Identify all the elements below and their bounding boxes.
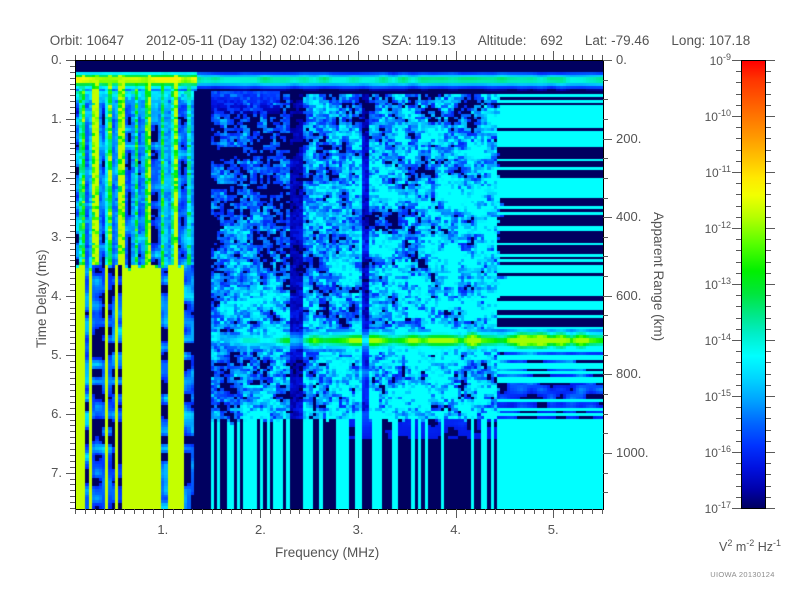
x-tick-minor (368, 509, 369, 514)
x-tick-minor (202, 509, 203, 514)
colorbar-container (741, 60, 766, 509)
y-left-tick-label-7: 7. (29, 465, 62, 480)
colorbar-tick-minor (766, 161, 771, 162)
x-tick-minor (241, 509, 242, 514)
colorbar-tick-major (766, 60, 775, 61)
x-tick-minor (378, 509, 379, 514)
x-tick-minor (563, 509, 564, 514)
colorbar-tick-minor (736, 351, 741, 352)
colorbar-tick-major (766, 396, 775, 397)
y-axis-right-title: Apparent Range (km) (651, 212, 666, 341)
colorbar-tick-minor (736, 150, 741, 151)
y-left-tick (70, 337, 75, 338)
x-tick-minor (573, 509, 574, 514)
x-tick-minor (602, 509, 603, 514)
x-tick-top (417, 55, 418, 60)
colorbar-tick-label--11: 10-11 (679, 164, 731, 180)
x-tick-minor (465, 509, 466, 514)
header-long-label: Long: (671, 33, 705, 48)
colorbar-tick-minor (766, 329, 771, 330)
colorbar-tick-minor (736, 206, 741, 207)
x-tick-top (163, 51, 164, 60)
x-tick-minor (504, 509, 505, 514)
colorbar-tick-major (766, 228, 775, 229)
x-tick-top (153, 55, 154, 60)
header-datetime: 2012-05-11 (Day 132) 02:04:36.126 (146, 33, 360, 48)
y-right-tick (603, 276, 608, 277)
x-tick-minor (173, 509, 174, 514)
y-left-tick (70, 113, 75, 114)
y-left-tick (70, 266, 75, 267)
y-left-tick (70, 95, 75, 96)
x-tick-top (524, 55, 525, 60)
colorbar-tick-minor (766, 82, 771, 83)
y-left-tick (70, 131, 75, 132)
y-left-tick (70, 154, 75, 155)
x-tick-minor (358, 509, 359, 518)
x-tick-label-5: 5. (533, 522, 573, 537)
colorbar-tick-minor (766, 194, 771, 195)
colorbar-tick-minor (766, 127, 771, 128)
y-left-tick (70, 166, 75, 167)
colorbar-unit-label: V2 m-2 Hz-1 (700, 538, 800, 554)
x-tick-minor (221, 509, 222, 514)
colorbar-tick-minor (736, 362, 741, 363)
colorbar-tick-minor (736, 194, 741, 195)
x-tick-minor (387, 509, 388, 514)
x-tick-top (495, 55, 496, 60)
x-tick-top (260, 51, 261, 60)
y-right-tick (603, 99, 608, 100)
colorbar-tick-minor (736, 94, 741, 95)
x-tick-minor (407, 509, 408, 514)
colorbar-tick-minor (766, 183, 771, 184)
y-left-tick (70, 255, 75, 256)
colorbar-tick-minor (766, 239, 771, 240)
colorbar-tick-minor (766, 71, 771, 72)
x-tick-top (465, 55, 466, 60)
colorbar-tick-major (766, 452, 775, 453)
y-left-tick (66, 119, 75, 120)
x-tick-minor (475, 509, 476, 514)
y-left-tick (70, 196, 75, 197)
y-left-tick (70, 172, 75, 173)
header-orbit-label: Orbit: (50, 33, 83, 48)
x-tick-top (134, 55, 135, 60)
header-altitude-value: 692 (540, 33, 563, 48)
colorbar-tick-minor (766, 486, 771, 487)
colorbar-tick-minor (766, 430, 771, 431)
colorbar-tick-minor (736, 318, 741, 319)
colorbar-tick-minor (736, 161, 741, 162)
x-tick-top (290, 55, 291, 60)
y-left-tick (70, 284, 75, 285)
x-tick-minor (417, 509, 418, 514)
x-axis-title: Frequency (MHz) (275, 545, 379, 560)
colorbar-tick-minor (766, 94, 771, 95)
y-left-tick (70, 249, 75, 250)
y-left-tick (70, 490, 75, 491)
colorbar-tick-minor (736, 250, 741, 251)
y-left-tick (66, 355, 75, 356)
y-axis-left-title: Time Delay (ms) (34, 249, 49, 348)
y-left-tick (70, 78, 75, 79)
y-left-tick (70, 502, 75, 503)
y-left-tick (70, 143, 75, 144)
colorbar-tick-minor (736, 295, 741, 296)
x-tick-minor (338, 509, 339, 514)
colorbar-tick-label--12: 10-12 (679, 220, 731, 236)
ionogram-header: Orbit: 10647 2012-05-11 (Day 132) 02:04:… (0, 30, 800, 50)
header-lat-value: -79.46 (611, 33, 649, 48)
colorbar-tick-minor (736, 71, 741, 72)
colorbar-tick-minor (736, 105, 741, 106)
x-tick-top (358, 51, 359, 60)
colorbar-tick-label--15: 10-15 (679, 388, 731, 404)
y-right-tick (603, 335, 608, 336)
y-left-tick (70, 260, 75, 261)
y-left-tick (70, 449, 75, 450)
x-tick-minor (114, 509, 115, 514)
y-right-tick (603, 119, 608, 120)
y-left-tick (70, 201, 75, 202)
x-tick-top (436, 55, 437, 60)
y-left-tick (70, 402, 75, 403)
colorbar-tick-minor (736, 138, 741, 139)
colorbar-tick-minor (736, 486, 741, 487)
x-tick-minor (280, 509, 281, 514)
colorbar-tick-minor (766, 295, 771, 296)
y-left-tick (70, 384, 75, 385)
x-tick-minor (299, 509, 300, 514)
y-left-tick (70, 66, 75, 67)
x-tick-top (104, 55, 105, 60)
y-left-tick (66, 237, 75, 238)
x-tick-top (85, 55, 86, 60)
colorbar-tick-major (732, 116, 741, 117)
y-left-tick (70, 107, 75, 108)
x-tick-minor (143, 509, 144, 514)
y-left-tick (70, 148, 75, 149)
y-right-tick (603, 237, 608, 238)
colorbar-tick-minor (736, 273, 741, 274)
y-right-tick (603, 217, 612, 218)
x-tick-minor (329, 509, 330, 514)
x-tick-minor (514, 509, 515, 514)
y-axis-left (75, 60, 76, 509)
colorbar-tick-minor (766, 385, 771, 386)
colorbar-tick-major (766, 340, 775, 341)
x-tick-minor (192, 509, 193, 514)
colorbar-tick-major (766, 508, 775, 509)
y-left-tick-label-2: 2. (29, 170, 62, 185)
colorbar-tick-minor (736, 385, 741, 386)
colorbar-tick-major (732, 228, 741, 229)
x-tick-minor (182, 509, 183, 514)
colorbar-tick-major (766, 284, 775, 285)
x-tick-minor (582, 509, 583, 514)
x-tick-top (514, 55, 515, 60)
x-tick-minor (290, 509, 291, 514)
y-left-tick (66, 178, 75, 179)
header-sza: SZA: 119.13 (382, 33, 456, 48)
colorbar-tick-label--13: 10-13 (679, 276, 731, 292)
x-tick-top (582, 55, 583, 60)
x-tick-top (348, 55, 349, 60)
x-tick-top (114, 55, 115, 60)
y-right-tick (603, 394, 608, 395)
x-tick-minor (397, 509, 398, 514)
header-orbit-value: 10647 (86, 33, 124, 48)
x-tick-top (534, 55, 535, 60)
colorbar-tick-minor (766, 362, 771, 363)
x-tick-top (573, 55, 574, 60)
y-left-tick (70, 278, 75, 279)
y-right-tick-label-400: 400. (616, 209, 641, 224)
y-right-tick (603, 473, 608, 474)
y-right-tick (603, 198, 608, 199)
colorbar-tick-minor (736, 374, 741, 375)
header-altitude: Altitude: 692 (478, 33, 563, 48)
colorbar-tick-minor (766, 250, 771, 251)
colorbar-tick-minor (736, 262, 741, 263)
y-right-tick (603, 492, 608, 493)
x-tick-minor (524, 509, 525, 514)
colorbar-tick-minor (766, 138, 771, 139)
x-tick-minor (592, 509, 593, 514)
x-tick-top (338, 55, 339, 60)
header-sza-value: 119.13 (415, 33, 455, 48)
colorbar-tick-minor (736, 217, 741, 218)
y-left-tick (70, 396, 75, 397)
colorbar-tick-minor (766, 150, 771, 151)
colorbar-tick-minor (766, 497, 771, 498)
x-tick-top (407, 55, 408, 60)
x-tick-top (192, 55, 193, 60)
y-left-tick (70, 125, 75, 126)
header-lat: Lat: -79.46 (585, 33, 650, 48)
x-tick-minor (124, 509, 125, 514)
x-tick-top (270, 55, 271, 60)
ionogram-heatmap (76, 61, 603, 509)
x-tick-top (563, 55, 564, 60)
y-right-tick (603, 355, 608, 356)
y-left-tick (70, 184, 75, 185)
header-altitude-label: Altitude: (478, 33, 527, 48)
header-long-value: 107.18 (709, 33, 750, 48)
x-tick-top (378, 55, 379, 60)
y-right-tick (603, 296, 612, 297)
colorbar-tick-minor (766, 474, 771, 475)
x-tick-top (182, 55, 183, 60)
y-left-tick (70, 190, 75, 191)
x-tick-top (329, 55, 330, 60)
colorbar-gradient (741, 60, 766, 509)
y-left-tick (70, 443, 75, 444)
y-left-tick (70, 361, 75, 362)
x-tick-minor (153, 509, 154, 514)
x-tick-minor (270, 509, 271, 514)
header-lat-label: Lat: (585, 33, 608, 48)
x-tick-minor (212, 509, 213, 514)
x-tick-minor (163, 509, 164, 518)
colorbar-tick-label--17: 10-17 (679, 500, 731, 516)
x-tick-top (124, 55, 125, 60)
x-tick-top (553, 51, 554, 60)
y-left-tick (70, 160, 75, 161)
x-tick-minor (104, 509, 105, 514)
x-tick-top (299, 55, 300, 60)
colorbar-tick-minor (766, 351, 771, 352)
y-right-tick-label-1000: 1000. (616, 445, 649, 460)
x-tick-minor (426, 509, 427, 514)
colorbar-tick-label--14: 10-14 (679, 332, 731, 348)
colorbar-tick-minor (736, 127, 741, 128)
colorbar-tick-label--10: 10-10 (679, 108, 731, 124)
x-tick-top (592, 55, 593, 60)
colorbar-tick-minor (736, 239, 741, 240)
y-left-tick (70, 331, 75, 332)
y-left-tick-label-0: 0. (29, 52, 62, 67)
x-tick-minor (85, 509, 86, 514)
y-left-tick (70, 243, 75, 244)
credit-text: UIOWA 20130124 (690, 570, 795, 579)
y-right-tick (603, 80, 608, 81)
colorbar-tick-minor (766, 206, 771, 207)
y-left-tick (70, 343, 75, 344)
x-tick-top (280, 55, 281, 60)
y-left-tick (70, 378, 75, 379)
y-right-tick (603, 453, 612, 454)
x-tick-top (75, 55, 76, 60)
y-left-tick (70, 425, 75, 426)
y-left-tick (70, 367, 75, 368)
x-tick-top (173, 55, 174, 60)
y-right-tick (603, 315, 608, 316)
y-left-tick (70, 496, 75, 497)
x-tick-top (485, 55, 486, 60)
x-tick-minor (134, 509, 135, 514)
x-tick-minor (348, 509, 349, 514)
y-left-tick (66, 473, 75, 474)
y-left-tick (70, 349, 75, 350)
y-left-tick (66, 60, 75, 61)
y-left-tick (70, 467, 75, 468)
y-left-tick (70, 479, 75, 480)
x-tick-top (221, 55, 222, 60)
y-left-tick (70, 508, 75, 509)
colorbar-tick-minor (736, 418, 741, 419)
colorbar-tick-major (732, 508, 741, 509)
y-left-tick-label-6: 6. (29, 406, 62, 421)
y-left-tick (70, 89, 75, 90)
y-left-tick (70, 225, 75, 226)
colorbar-tick-major (732, 60, 741, 61)
x-tick-minor (251, 509, 252, 514)
y-left-tick (70, 72, 75, 73)
colorbar-tick-minor (766, 441, 771, 442)
y-left-tick (70, 319, 75, 320)
x-tick-top (426, 55, 427, 60)
colorbar-tick-minor (766, 273, 771, 274)
y-right-tick (603, 433, 608, 434)
x-tick-top (319, 55, 320, 60)
y-left-tick-label-1: 1. (29, 111, 62, 126)
colorbar-tick-minor (766, 463, 771, 464)
colorbar-tick-major (732, 172, 741, 173)
x-tick-top (504, 55, 505, 60)
y-left-tick (70, 372, 75, 373)
header-long: Long: 107.18 (671, 33, 750, 48)
y-left-tick (70, 390, 75, 391)
x-tick-label-2: 2. (240, 522, 280, 537)
x-tick-top (368, 55, 369, 60)
x-tick-minor (319, 509, 320, 514)
x-tick-minor (495, 509, 496, 514)
x-tick-top (251, 55, 252, 60)
x-tick-top (446, 55, 447, 60)
y-left-tick (70, 455, 75, 456)
x-tick-minor (543, 509, 544, 514)
x-tick-label-3: 3. (338, 522, 378, 537)
colorbar-tick-minor (736, 474, 741, 475)
colorbar-tick-minor (736, 463, 741, 464)
y-right-tick (603, 139, 612, 140)
x-tick-minor (446, 509, 447, 514)
x-tick-top (241, 55, 242, 60)
x-tick-label-4: 4. (436, 522, 476, 537)
x-tick-minor (534, 509, 535, 514)
y-left-tick (70, 313, 75, 314)
colorbar-tick-major (766, 116, 775, 117)
x-tick-top (309, 55, 310, 60)
colorbar-tick-minor (736, 407, 741, 408)
colorbar-tick-minor (736, 441, 741, 442)
y-left-tick-label-5: 5. (29, 347, 62, 362)
colorbar-tick-minor (766, 217, 771, 218)
y-axis-right (603, 60, 604, 509)
x-tick-top (202, 55, 203, 60)
y-left-tick (70, 231, 75, 232)
y-left-tick (70, 84, 75, 85)
colorbar-tick-minor (736, 497, 741, 498)
colorbar-tick-label--9: 10-9 (679, 52, 731, 68)
y-left-tick (66, 296, 75, 297)
colorbar-tick-minor (736, 306, 741, 307)
y-right-tick (603, 414, 608, 415)
y-left-tick (70, 101, 75, 102)
colorbar-tick-minor (736, 329, 741, 330)
y-left-tick (70, 213, 75, 214)
x-tick-minor (75, 509, 76, 514)
colorbar-tick-minor (766, 262, 771, 263)
x-tick-top (95, 55, 96, 60)
y-right-tick-label-0: 0. (616, 52, 627, 67)
x-tick-minor (95, 509, 96, 514)
x-tick-top (475, 55, 476, 60)
y-right-tick (603, 158, 608, 159)
colorbar-tick-minor (736, 82, 741, 83)
y-left-tick (70, 484, 75, 485)
y-left-tick (70, 437, 75, 438)
colorbar-tick-minor (766, 407, 771, 408)
y-left-tick (70, 290, 75, 291)
y-left-tick (70, 325, 75, 326)
colorbar-tick-major (732, 396, 741, 397)
y-left-tick (70, 431, 75, 432)
x-tick-minor (456, 509, 457, 518)
colorbar-tick-minor (766, 374, 771, 375)
